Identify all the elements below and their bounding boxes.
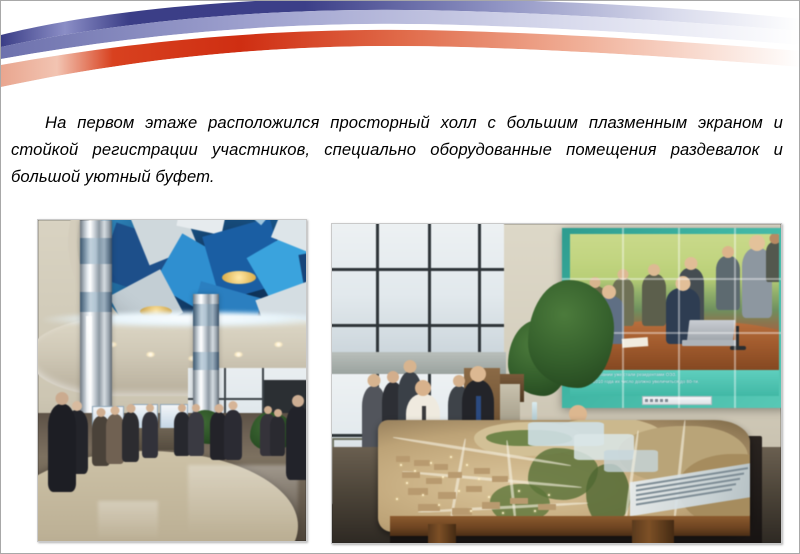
lobby-atrium-photo: [37, 219, 307, 542]
person: [122, 412, 139, 462]
presentation-slide: На первом этаже расположился просторный …: [0, 0, 800, 554]
model-table-leg: [428, 524, 456, 544]
toolbar-icon[interactable]: [665, 399, 668, 402]
person: [142, 412, 158, 458]
video-wall-caption-line-2: До 2010 года их число должно увеличиться…: [586, 379, 782, 385]
toolbar-icon[interactable]: [645, 399, 648, 402]
water-bottle: [532, 402, 537, 420]
onscreen-toolbar[interactable]: [642, 396, 712, 405]
video-wall-caption-line-1: 32 компании уже стали резидентами ОЭЗ.: [586, 372, 776, 378]
person: [188, 412, 204, 456]
panel-seam: [562, 278, 782, 280]
model-table-leg: [632, 520, 674, 544]
slide-paragraph: На первом этаже расположился просторный …: [11, 109, 783, 190]
person-foreground: [286, 406, 307, 480]
person: [270, 416, 285, 456]
panel-seam: [734, 228, 736, 408]
person: [224, 410, 242, 460]
panel-seam: [678, 228, 680, 408]
toolbar-icon[interactable]: [650, 399, 653, 402]
header-ribbon-swoosh: [1, 1, 800, 97]
toolbar-icon[interactable]: [660, 399, 663, 402]
toolbar-icon[interactable]: [655, 399, 658, 402]
panel-seam: [622, 228, 624, 408]
person-foreground: [48, 404, 76, 492]
potted-plant-large: [528, 280, 614, 388]
plasma-screen-and-city-model-photo: 32 компании уже стали резидентами ОЭЗ. Д…: [331, 223, 782, 544]
